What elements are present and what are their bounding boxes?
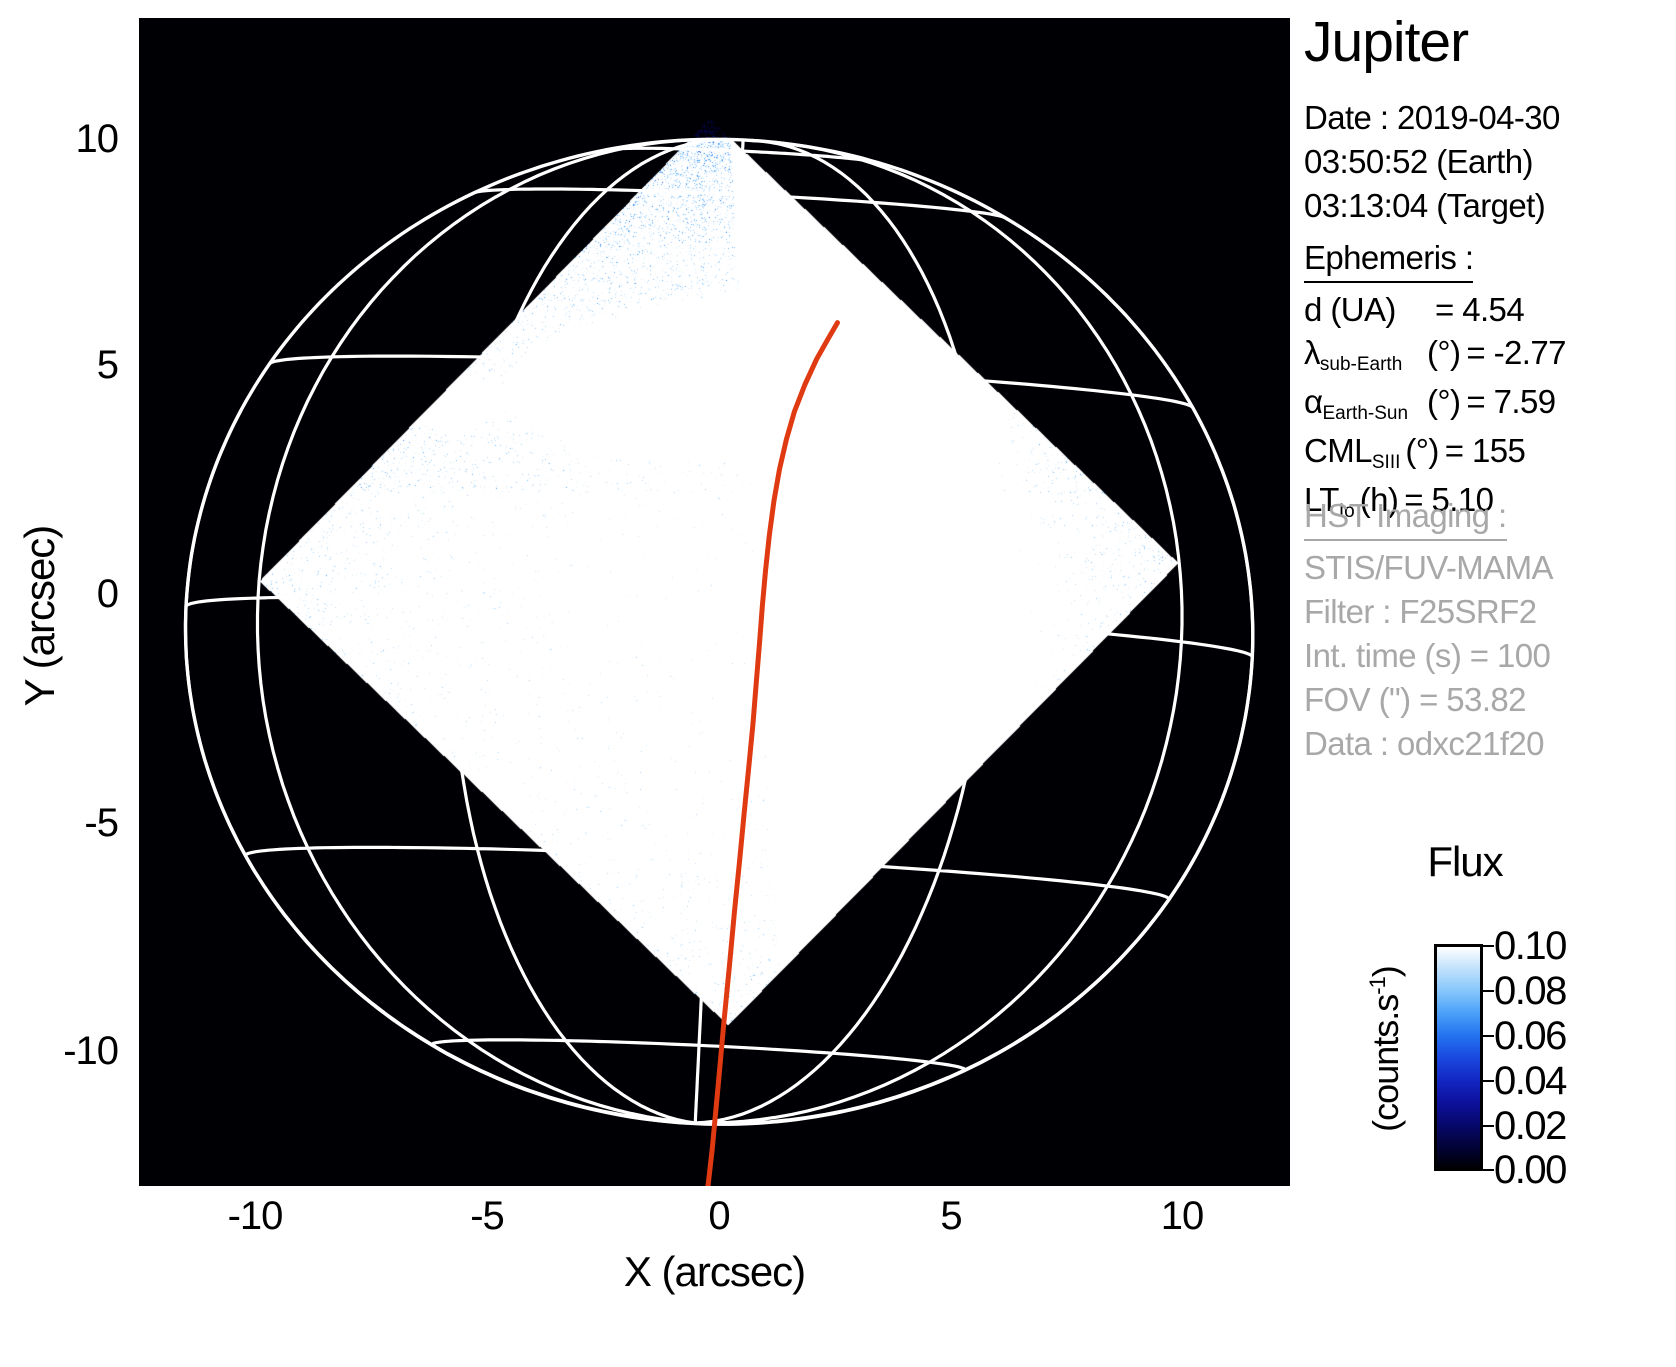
xtick-label-0: 0 (708, 1196, 729, 1236)
colorbar-tick-008 (1483, 990, 1494, 992)
time-target-line: 03:13:04 (Target) (1304, 184, 1560, 228)
planet-graticule-overlay (139, 18, 1290, 1186)
ephemeris-row-cml: CMLSIII (°) = 155 (1304, 429, 1566, 478)
observation-date-block: Date : 2019-04-30 03:50:52 (Earth) 03:13… (1304, 96, 1560, 228)
hst-fov: FOV (") = 53.82 (1304, 678, 1553, 722)
date-line: Date : 2019-04-30 (1304, 96, 1560, 140)
colorbar-label-004: 0.04 (1494, 1061, 1566, 1101)
eph-subscript-lambda: sub-Earth (1320, 354, 1402, 375)
colorbar-title: Flux (1400, 838, 1530, 886)
figure-root: 10 5 0 -5 -10 -10 -5 0 5 10 X (arcsec) Y… (0, 0, 1676, 1367)
colorbar-gradient (1434, 944, 1483, 1171)
eph-unit-cml: (°) (1405, 429, 1438, 472)
ytick-label-m10: -10 (63, 1031, 118, 1071)
eph-symbol-lambda: λ (1304, 331, 1320, 374)
ephemeris-row-distance: d (UA) = 4.54 (1304, 288, 1566, 331)
eph-unit-d: (UA) (1330, 291, 1395, 328)
colorbar-unit-close: ) (1365, 966, 1406, 977)
eph-subscript-alpha: Earth-Sun (1322, 403, 1408, 424)
colorbar-tick-006 (1483, 1035, 1494, 1037)
hst-dataset-id: Data : odxc21f20 (1304, 722, 1553, 766)
eph-value-alpha: = 7.59 (1466, 380, 1555, 423)
eph-value-cml: = 155 (1445, 429, 1526, 472)
eph-subscript-cml: SIII (1372, 452, 1401, 473)
sky-image-panel (139, 18, 1290, 1186)
xtick-label-m5: -5 (470, 1196, 504, 1236)
y-axis-title: Y (arcsec) (16, 436, 64, 796)
eph-unit-alpha: (°) (1427, 380, 1460, 423)
colorbar-label-002: 0.02 (1494, 1106, 1566, 1146)
ytick-label-0: 0 (97, 574, 118, 614)
colorbar-tick-002 (1483, 1125, 1494, 1127)
metadata-panel: Jupiter Date : 2019-04-30 03:50:52 (Eart… (1300, 0, 1676, 1367)
eph-value-lambda: = -2.77 (1466, 331, 1565, 374)
xtick-label-10: 10 (1161, 1196, 1204, 1236)
colorbar-label-010: 0.10 (1494, 926, 1566, 966)
latitude-longitude-grid (186, 139, 1253, 1124)
hst-instrument: STIS/FUV-MAMA (1304, 546, 1553, 590)
colorbar-unit-label: (counts.s-1) (1365, 919, 1407, 1179)
eph-symbol-alpha: α (1304, 380, 1322, 423)
hst-imaging-heading: HST Imaging : (1304, 496, 1507, 541)
target-name-title: Jupiter (1304, 14, 1468, 71)
colorbar-label-006: 0.06 (1494, 1016, 1566, 1056)
ephemeris-row-phase-angle: αEarth-Sun (°) = 7.59 (1304, 380, 1566, 429)
hst-int-time: Int. time (s) = 100 (1304, 634, 1553, 678)
hst-filter: Filter : F25SRF2 (1304, 590, 1553, 634)
ytick-label-5: 5 (97, 345, 118, 385)
colorbar-unit-text: (counts.s (1365, 995, 1406, 1132)
ephemeris-row-sub-earth-latitude: λsub-Earth (°) = -2.77 (1304, 331, 1566, 380)
xtick-label-m10: -10 (228, 1196, 283, 1236)
ytick-label-10: 10 (76, 119, 119, 159)
hst-imaging-block: HST Imaging : STIS/FUV-MAMA Filter : F25… (1304, 496, 1553, 766)
eph-unit-lambda: (°) (1427, 331, 1460, 374)
xtick-label-5: 5 (940, 1196, 961, 1236)
x-axis-title: X (arcsec) (139, 1248, 1290, 1296)
colorbar-tick-004 (1483, 1080, 1494, 1082)
colorbar-label-000: 0.00 (1494, 1150, 1566, 1190)
eph-symbol-d: d (1304, 288, 1322, 331)
colorbar-tick-000 (1483, 1169, 1494, 1171)
time-earth-line: 03:50:52 (Earth) (1304, 140, 1560, 184)
ephemeris-block: Ephemeris : d (UA) = 4.54 λsub-Earth (°)… (1304, 238, 1566, 527)
colorbar-tick-010 (1483, 945, 1494, 947)
ytick-label-m5: -5 (84, 803, 118, 843)
eph-symbol-cml: CML (1304, 429, 1372, 472)
eph-value-d: = 4.54 (1435, 288, 1524, 331)
ephemeris-heading: Ephemeris : (1304, 238, 1473, 283)
colorbar-label-008: 0.08 (1494, 971, 1566, 1011)
colorbar-unit-exponent: -1 (1365, 977, 1390, 995)
